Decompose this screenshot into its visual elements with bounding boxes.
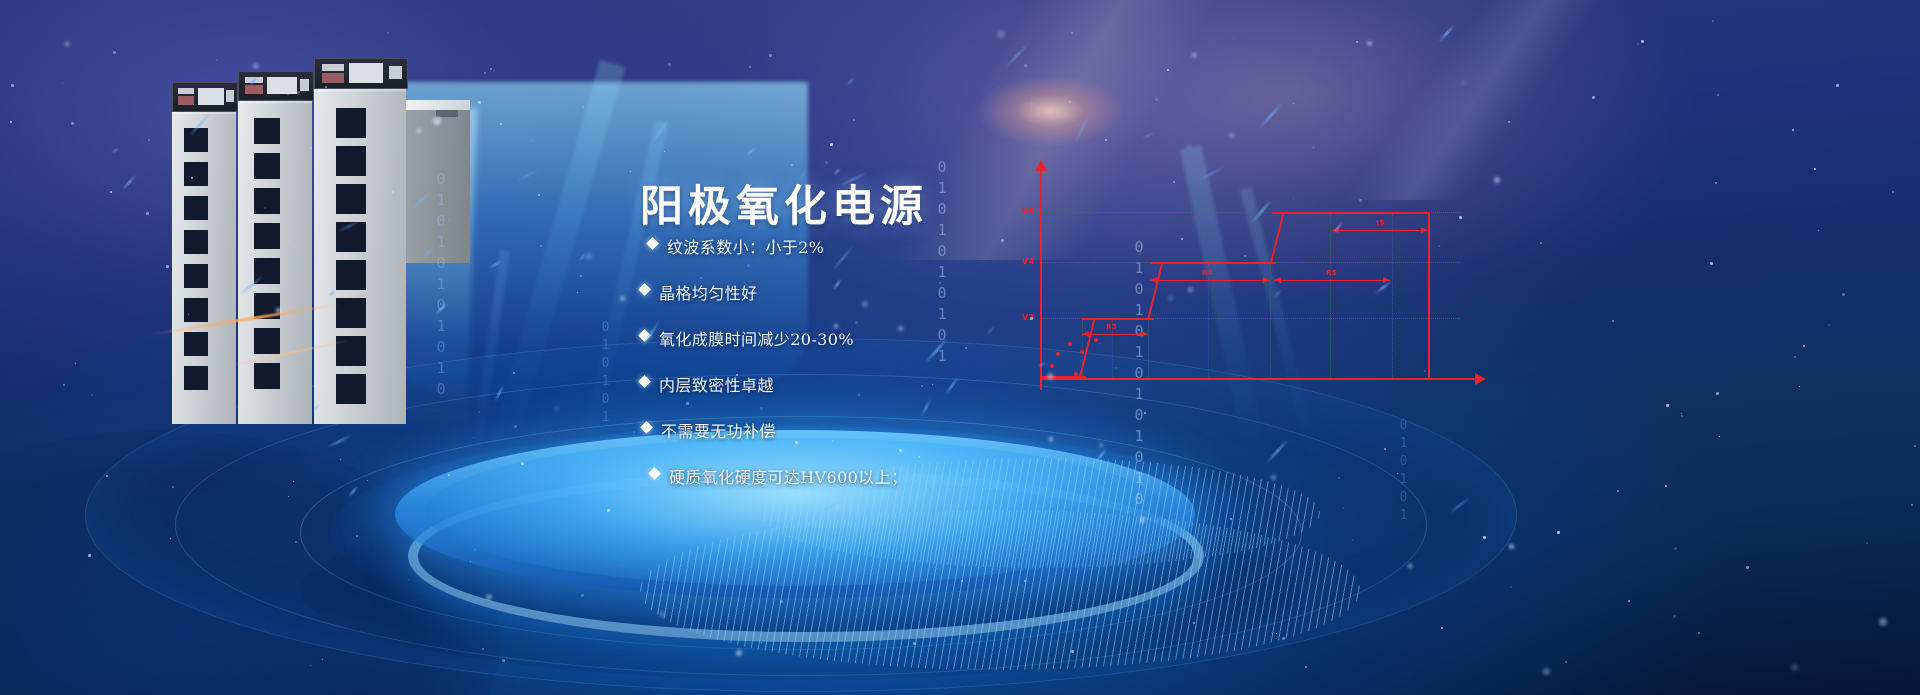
particle <box>1791 664 1798 671</box>
light-streak <box>121 174 136 191</box>
particle <box>582 106 584 108</box>
light-streak <box>1259 102 1284 129</box>
particle <box>1715 182 1717 184</box>
particle <box>1914 445 1916 447</box>
particle <box>1665 485 1667 487</box>
cabinet-middle-keypad <box>245 85 263 94</box>
particle <box>172 486 174 488</box>
particle <box>1293 103 1294 104</box>
particle <box>1666 404 1669 407</box>
particle <box>1866 542 1868 544</box>
particle <box>1799 386 1800 387</box>
particle <box>1233 38 1234 39</box>
feature-text: 纹波系数小：小于2% <box>667 234 824 258</box>
chart-dimlabel-t5: t5 <box>1376 219 1385 227</box>
particle <box>493 70 495 72</box>
light-streak <box>1074 115 1089 144</box>
cabinet-middle-vent <box>254 328 280 354</box>
particle <box>75 363 76 364</box>
particle <box>1617 490 1619 492</box>
particle <box>1508 121 1510 123</box>
cabinet-rear-meter <box>226 90 234 102</box>
particle <box>585 253 592 260</box>
chart-vline-3 <box>1148 318 1149 378</box>
particle <box>1312 146 1315 149</box>
particle <box>1230 518 1232 520</box>
cabinet-front-meter <box>389 66 402 79</box>
particle <box>1814 168 1816 170</box>
diamond-bullet-icon <box>646 237 659 250</box>
cabinet-rear-vent <box>184 366 208 390</box>
chart-vline-6 <box>1330 214 1331 378</box>
cabinet-middle-vent <box>254 363 280 389</box>
particle <box>10 121 12 123</box>
binary-decor-2: 010101 <box>598 320 613 428</box>
particle <box>1746 566 1749 569</box>
particle <box>473 437 474 438</box>
particle <box>540 245 542 247</box>
particle <box>961 580 963 582</box>
feature-text: 晶格均匀性好 <box>659 280 757 304</box>
particle <box>356 535 358 537</box>
particle <box>514 425 517 428</box>
feature-item-hardness: 硬质氧化硬度可达HV600以上； <box>650 464 1100 488</box>
particle <box>148 139 150 141</box>
light-streak <box>1004 42 1029 69</box>
particle <box>500 123 502 125</box>
chart-vline-5 <box>1270 264 1271 378</box>
cabinet-bank-top-deck <box>406 100 470 110</box>
chart-step-end-riser <box>1428 212 1430 378</box>
particle <box>1911 504 1913 506</box>
chart-ytick-v5: V5 <box>1022 207 1035 216</box>
cabinet-front-display <box>322 64 344 71</box>
particle <box>1167 69 1169 71</box>
cabinet-middle-control-panel <box>238 71 314 101</box>
particle <box>532 140 533 141</box>
feature-item-lattice: 晶格均匀性好 <box>640 280 1100 304</box>
particle <box>62 83 63 84</box>
cabinet-front-label <box>349 63 383 83</box>
diamond-bullet-icon <box>648 467 661 480</box>
chart-x-axis-arrow <box>1475 373 1486 385</box>
diamond-bullet-icon <box>640 421 653 434</box>
particle <box>749 66 751 68</box>
particle <box>484 72 486 74</box>
light-streak <box>577 252 587 263</box>
cabinet-front-vent <box>336 184 366 214</box>
particle <box>11 84 14 87</box>
particle <box>1836 84 1839 87</box>
light-streak <box>846 76 855 86</box>
cabinet-middle-display <box>245 77 263 83</box>
particle <box>408 579 409 580</box>
feature-text: 不需要无功补偿 <box>661 418 776 442</box>
feature-list: 纹波系数小：小于2% 晶格均匀性好 氧化成膜时间减少20-30% 内层致密性卓越… <box>640 234 1100 510</box>
particle <box>1637 43 1639 45</box>
particle <box>1818 230 1819 231</box>
feature-item-density: 内层致密性卓越 <box>640 372 1100 396</box>
diamond-bullet-icon <box>638 375 651 388</box>
particle <box>1879 618 1887 626</box>
cabinet-middle-vent <box>254 118 280 144</box>
cabinet-middle-vent <box>254 223 280 249</box>
particle <box>580 275 582 277</box>
particle <box>1716 392 1719 395</box>
particle <box>1024 64 1027 67</box>
cabinet-rear-display <box>178 88 194 94</box>
particle <box>502 659 505 662</box>
particle <box>1069 101 1071 103</box>
particle <box>1543 668 1550 675</box>
particle <box>1674 547 1677 550</box>
cabinet-middle-label <box>267 77 297 94</box>
feature-text: 硬质氧化硬度可达HV600以上； <box>669 464 907 488</box>
feature-item-ripple: 纹波系数小：小于2% <box>648 234 1100 258</box>
particle <box>1105 139 1107 141</box>
particle <box>1139 517 1145 523</box>
particle <box>474 549 476 551</box>
chart-dim-r4 <box>1150 280 1270 281</box>
particle <box>310 665 311 666</box>
particle <box>295 541 297 543</box>
particle <box>1612 320 1614 322</box>
chart-step-riser-3 <box>1270 214 1284 264</box>
light-streak <box>326 434 352 449</box>
particle <box>1155 98 1158 101</box>
particle <box>1305 666 1307 668</box>
particle <box>1892 191 1894 193</box>
particle <box>146 212 149 215</box>
chart-vline-4 <box>1208 264 1209 378</box>
chart-x-axis <box>1040 378 1482 380</box>
cabinet-rear-control-panel <box>172 82 238 112</box>
particle <box>470 561 471 562</box>
page-title: 阳极氧化电源 <box>640 172 928 234</box>
particle <box>825 161 828 164</box>
light-streak <box>1448 496 1471 514</box>
particle <box>170 538 171 539</box>
diamond-bullet-icon <box>638 329 651 342</box>
particle <box>1719 436 1720 437</box>
particle <box>620 296 625 301</box>
cabinet-rear-vent <box>184 128 208 152</box>
light-streak <box>347 485 358 497</box>
particle <box>913 642 916 645</box>
feature-text: 氧化成膜时间减少20-30% <box>659 326 854 350</box>
cabinet-front-vent <box>336 146 366 176</box>
particle <box>1803 345 1805 347</box>
light-streak <box>746 146 757 156</box>
particle <box>664 151 665 152</box>
particle <box>1712 20 1714 22</box>
cabinet-front-vent <box>336 374 366 404</box>
particle <box>607 509 610 512</box>
particle <box>1792 129 1794 131</box>
particle <box>791 164 793 166</box>
particle <box>253 63 259 69</box>
particle <box>1673 615 1676 618</box>
particle <box>340 459 341 460</box>
particle <box>1540 242 1542 244</box>
chart-vline-7 <box>1392 214 1393 378</box>
particle <box>1192 53 1196 57</box>
cabinet-rear-vent <box>184 298 208 322</box>
particle <box>482 648 484 650</box>
particle <box>997 30 1005 38</box>
particle <box>1710 262 1713 265</box>
particle <box>630 171 631 172</box>
cabinet-front-vent <box>336 298 366 328</box>
particle <box>71 122 74 125</box>
particle <box>1193 622 1195 624</box>
particle <box>1641 40 1644 43</box>
cabinet-front-vent <box>336 260 366 290</box>
feature-item-film-time: 氧化成膜时间减少20-30% <box>640 326 1100 350</box>
particle <box>1592 96 1595 99</box>
light-streak <box>1438 24 1455 43</box>
light-streak <box>650 117 670 145</box>
binary-decor-5: 010101 <box>1396 418 1411 526</box>
particle <box>1024 580 1026 582</box>
light-streak <box>494 385 504 402</box>
particle <box>322 659 323 660</box>
cabinet-front-vent <box>336 108 366 138</box>
particle <box>293 481 294 482</box>
particle <box>288 496 289 497</box>
light-streak <box>488 259 502 269</box>
particle <box>63 384 65 386</box>
particle <box>769 54 772 57</box>
particle <box>1338 477 1340 479</box>
particle <box>521 462 524 465</box>
hero-banner: 01010101010 010101 0101010101 0101010101… <box>0 0 1920 695</box>
cabinet-front-vent <box>336 222 366 252</box>
particle <box>853 119 855 121</box>
cabinet-middle-meter <box>300 79 309 91</box>
particle <box>1717 94 1719 96</box>
particle <box>554 406 559 411</box>
cabinet-rear-keypad <box>178 96 194 105</box>
particle <box>513 372 515 374</box>
particle <box>1509 544 1514 549</box>
light-streak <box>516 168 539 182</box>
feature-item-no-reactive-compensation: 不需要无功补偿 <box>642 418 1100 442</box>
particle <box>91 394 93 396</box>
particle <box>1276 633 1277 634</box>
particle <box>1510 586 1512 588</box>
particle <box>1031 103 1033 105</box>
podium-hatching-lower <box>640 510 1360 670</box>
particle <box>88 554 91 557</box>
cabinet-rear-vent <box>184 332 208 356</box>
particle <box>780 600 783 603</box>
particle <box>387 32 389 34</box>
particle <box>1483 536 1486 539</box>
bottom-left-glow <box>0 430 500 695</box>
particle <box>581 594 584 597</box>
feature-text: 内层致密性卓越 <box>659 372 774 396</box>
particle <box>1462 81 1466 85</box>
particle <box>1628 600 1630 602</box>
chart-dim-t5 <box>1332 230 1428 231</box>
chart-step-segment-3 <box>1150 262 1276 264</box>
particle <box>1828 324 1830 326</box>
particle <box>110 191 112 193</box>
particle <box>1565 661 1567 663</box>
particle <box>1367 41 1372 46</box>
cabinet-middle-vent <box>254 153 280 179</box>
particle <box>577 292 578 293</box>
cabinet-front-control-panel <box>314 58 408 89</box>
cabinet-rear-vent <box>184 230 208 254</box>
chart-dimlabel-r5: R5 <box>1326 269 1337 277</box>
particle <box>448 474 450 476</box>
particle <box>1071 32 1073 34</box>
cabinet-rear-label <box>198 88 224 105</box>
light-streak <box>1141 131 1156 140</box>
particle <box>1557 531 1560 534</box>
particle <box>1352 539 1354 541</box>
particle <box>761 642 762 643</box>
particle <box>1071 650 1074 653</box>
particle <box>1342 507 1344 509</box>
particle <box>1282 637 1285 640</box>
chart-step-riser-2 <box>1147 264 1163 320</box>
particle <box>113 51 116 54</box>
chart-dimlabel-r4: R4 <box>1202 269 1213 277</box>
chart-dimlabel-r3: R3 <box>1106 323 1117 331</box>
cabinet-rear-vent <box>184 264 208 288</box>
diamond-bullet-icon <box>638 283 651 296</box>
particle <box>1356 41 1358 43</box>
particle <box>1441 627 1443 629</box>
particle <box>633 431 635 433</box>
particle <box>659 611 665 617</box>
particle <box>1842 293 1845 296</box>
particle <box>1113 553 1114 554</box>
particle <box>216 59 218 61</box>
binary-decor-1: 01010101010 <box>432 170 450 401</box>
cabinet-bank-logo <box>436 110 458 117</box>
particle <box>668 63 671 66</box>
cabinet-middle-vent <box>254 188 280 214</box>
particle <box>367 480 368 481</box>
lens-flare-core <box>975 75 1125 147</box>
particle <box>1229 133 1234 138</box>
chart-dim-r5 <box>1274 280 1390 281</box>
particle <box>166 265 169 268</box>
cabinet-rear-vent <box>184 196 208 220</box>
particle <box>736 650 742 656</box>
podium-shadow <box>300 500 1300 680</box>
particle <box>1681 413 1682 414</box>
particle <box>1187 145 1191 149</box>
light-streak <box>1264 438 1289 465</box>
particle <box>1698 632 1700 634</box>
particle <box>830 143 833 146</box>
particle <box>1271 475 1276 480</box>
cabinet-rear-vent <box>184 162 208 186</box>
particle <box>1408 564 1412 568</box>
particle <box>538 194 540 196</box>
particle <box>1384 448 1386 450</box>
particle <box>1794 356 1796 358</box>
particle <box>106 475 108 477</box>
particle <box>486 594 492 600</box>
chart-step-segment-4 <box>1272 212 1430 214</box>
particle <box>65 42 69 46</box>
particle <box>490 68 492 70</box>
particle <box>1681 415 1683 417</box>
cabinet-front-keypad <box>322 73 344 83</box>
light-streak <box>111 147 120 154</box>
cabinet-middle-vent <box>254 258 280 284</box>
